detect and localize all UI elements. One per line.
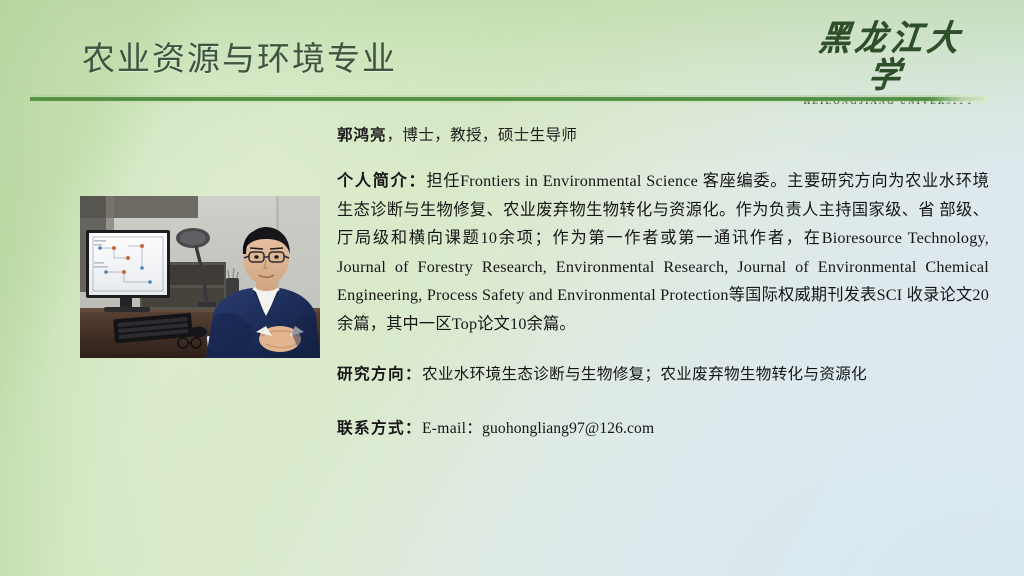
research-direction: 研究方向：农业水环境生态诊断与生物修复；农业废弃物生物转化与资源化 <box>337 361 989 389</box>
profile-bio: 个人简介：担任Frontiers in Environmental Scienc… <box>337 167 989 339</box>
research-direction-text: 农业水环境生态诊断与生物修复；农业废弃物生物转化与资源化 <box>422 366 867 383</box>
university-logo: 黑龙江大学 HEILONGJIANG UNIVERSITY <box>800 24 978 106</box>
header-divider-fade <box>930 95 988 103</box>
portrait-photo-image <box>80 196 320 358</box>
profile-bio-label: 个人简介： <box>337 172 426 190</box>
contact-email-prefix: E-mail： <box>422 420 482 437</box>
profile-name: 郭鸿亮 <box>337 127 387 144</box>
profile-credentials: ，博士，教授，硕士生导师 <box>387 127 578 144</box>
contact-email-address[interactable]: guohongliang97@126.com <box>482 420 654 437</box>
contact-label: 联系方式： <box>337 420 422 437</box>
contact-info: 联系方式：E-mail：guohongliang97@126.com <box>337 415 989 443</box>
slide-header: 农业资源与环境专业 黑龙江大学 HEILONGJIANG UNIVERSITY <box>0 0 1024 112</box>
page-title: 农业资源与环境专业 <box>82 41 397 81</box>
profile-content: 郭鸿亮，博士，教授，硕士生导师 个人简介：担任Frontiers in Envi… <box>337 123 989 443</box>
profile-name-line: 郭鸿亮，博士，教授，硕士生导师 <box>337 123 989 145</box>
research-direction-label: 研究方向： <box>337 366 422 383</box>
profile-bio-text: 担任Frontiers in Environmental Science 客座编… <box>337 172 989 333</box>
university-logo-wordmark: 黑龙江大学 <box>795 20 982 95</box>
portrait-photo <box>80 196 320 358</box>
slide-canvas: 农业资源与环境专业 黑龙江大学 HEILONGJIANG UNIVERSITY <box>0 0 1024 576</box>
header-divider <box>30 95 985 103</box>
